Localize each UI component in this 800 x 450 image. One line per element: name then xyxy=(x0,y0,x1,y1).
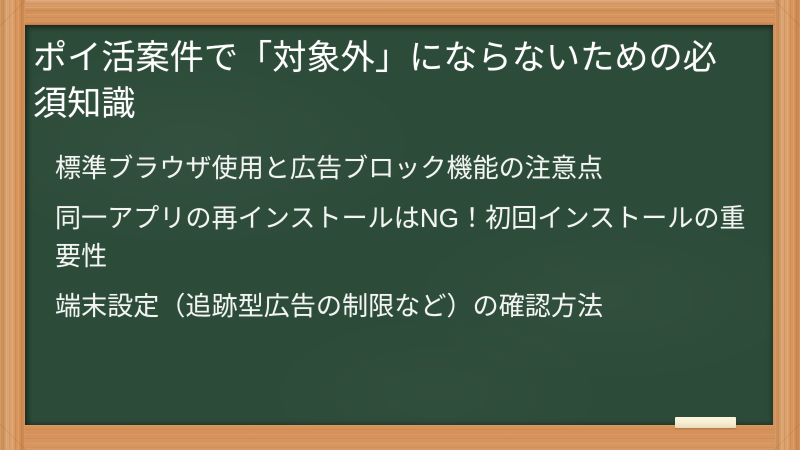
bullet-item-3: 端末設定（追跡型広告の制限など）の確認方法 xyxy=(55,287,751,325)
frame-bottom-ledge xyxy=(0,425,800,450)
blackboard-slide: ポイ活案件で「対象外」にならないための必須知識 標準ブラウザ使用と広告ブロック機… xyxy=(0,0,800,450)
chalk-stick-icon xyxy=(675,417,736,428)
bullet-list: 標準ブラウザ使用と広告ブロック機能の注意点 同一アプリの再インストールはNG！初… xyxy=(33,149,751,325)
chalkboard-surface: ポイ活案件で「対象外」にならないための必須知識 標準ブラウザ使用と広告ブロック機… xyxy=(25,25,773,425)
bullet-item-1: 標準ブラウザ使用と広告ブロック機能の注意点 xyxy=(55,149,751,187)
frame-right-stile xyxy=(775,0,800,450)
frame-top-rail xyxy=(0,0,800,25)
bullet-item-2: 同一アプリの再インストールはNG！初回インストールの重要性 xyxy=(55,199,751,275)
slide-title: ポイ活案件で「対象外」にならないための必須知識 xyxy=(33,35,751,127)
board-content: ポイ活案件で「対象外」にならないための必須知識 標準ブラウザ使用と広告ブロック機… xyxy=(25,25,773,425)
frame-left-stile xyxy=(0,0,25,450)
